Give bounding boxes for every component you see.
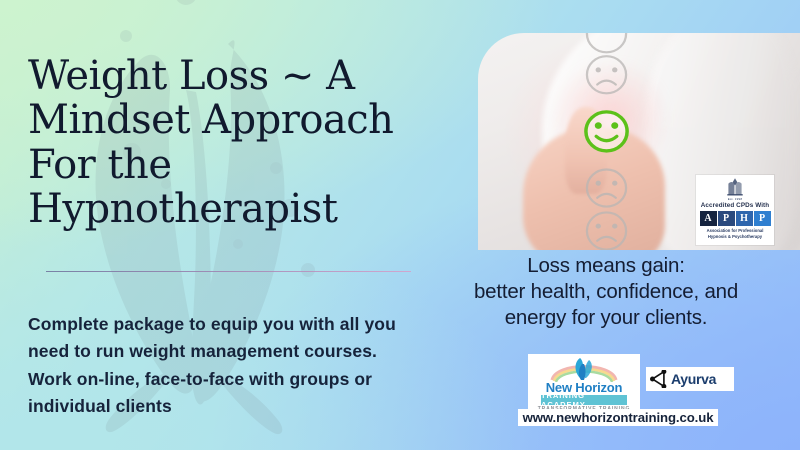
aphp-footer-line-1: Association for Professional (707, 228, 764, 233)
tagline-text: Loss means gain: better health, confiden… (412, 253, 800, 332)
aphp-letter-blocks: A P H P (700, 211, 771, 226)
aphp-crest-icon (724, 177, 746, 197)
aphp-letter-a: A (700, 211, 717, 226)
butterfly-rainbow-icon (528, 356, 640, 382)
poster-canvas: Weight Loss ~ A Mindset Approach For the… (0, 0, 800, 450)
tagline-line-2: better health, confidence, and (474, 280, 738, 303)
ayurva-name: Ayurva (671, 371, 716, 387)
green-smiley-icon (586, 112, 627, 151)
website-url[interactable]: www.newhorizontraining.co.uk (518, 409, 718, 426)
new-horizon-bar: TRAINING ACADEMY (541, 395, 627, 405)
title-line-4: Hypnotherapist (28, 186, 337, 232)
tagline-line-3: energy for your clients. (505, 306, 708, 329)
divider-rule (46, 271, 411, 272)
aphp-heading: Accredited CPDs With (701, 202, 769, 209)
aphp-footer-line-2: Hypnosis & Psychotherapy (708, 234, 762, 239)
left-content-column: Weight Loss ~ A Mindset Approach For the… (0, 0, 440, 450)
ayurva-triangle-node-icon (649, 370, 669, 388)
aphp-footer: Association for Professional Hypnosis & … (707, 228, 764, 240)
new-horizon-logo: New Horizon TRAINING ACADEMY TRANSFORMAT… (528, 354, 640, 416)
title-line-2: Mindset Approach (28, 97, 393, 143)
aphp-letter-p2: P (754, 211, 771, 226)
aphp-accreditation-badge: Est. 1998 Accredited CPDs With A P H P A… (696, 175, 774, 245)
aphp-established: Est. 1998 (728, 197, 742, 201)
page-title: Weight Loss ~ A Mindset Approach For the… (28, 54, 428, 232)
title-line-3: For the (28, 142, 172, 188)
description-text: Complete package to equip you with all y… (28, 311, 420, 422)
tagline-line-1: Loss means gain: (527, 254, 684, 277)
title-line-1: Weight Loss ~ A (28, 53, 355, 99)
aphp-letter-h: H (736, 211, 753, 226)
face-rating-column (555, 33, 658, 250)
ayurva-logo: Ayurva (646, 367, 734, 391)
aphp-letter-p1: P (718, 211, 735, 226)
